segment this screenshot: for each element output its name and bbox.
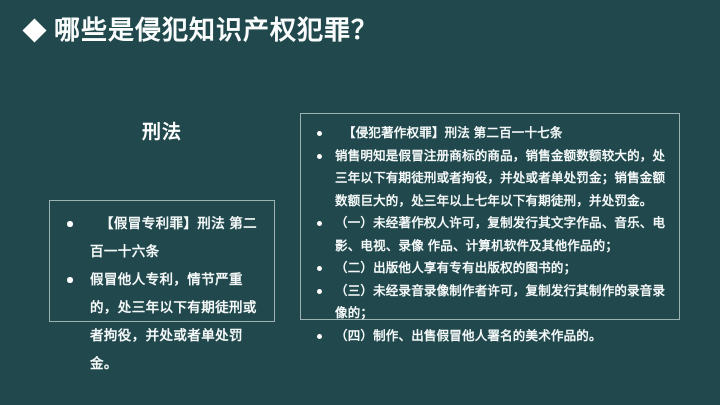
slide-canvas: 哪些是侵犯知识产权犯罪？ 刑法 【假冒专利罪】刑法 第二百一十六条 假冒他人专利… (0, 0, 720, 405)
list-item: 销售明知是假冒注册商标的商品，销售金额数额较大的，处三年以下有期徒刑或者拘役，并… (307, 145, 669, 213)
list-item: （二）出版他人享有专有出版权的图书的； (307, 257, 669, 280)
criminal-law-patent-box: 【假冒专利罪】刑法 第二百一十六条 假冒他人专利，情节严重的，处三年以下有期徒刑… (49, 200, 275, 322)
page-title: 哪些是侵犯知识产权犯罪？ (54, 16, 378, 45)
right-bullet-list: 【侵犯著作权罪】刑法 第二百一十七条 销售明知是假冒注册商标的商品，销售金额数额… (307, 122, 669, 347)
list-item: （四）制作、出售假冒他人署名的美术作品的。 (307, 325, 669, 348)
slide-title-row: 哪些是侵犯知识产权犯罪？ (26, 16, 378, 45)
list-item: （一）未经著作权人许可，复制发行其文字作品、音乐、电影、电视、录像 作品、计算机… (307, 212, 669, 257)
copyright-infringement-box: 【侵犯著作权罪】刑法 第二百一十七条 销售明知是假冒注册商标的商品，销售金额数额… (300, 113, 680, 320)
left-column-heading: 刑法 (49, 117, 275, 144)
diamond-bullet-icon (22, 18, 46, 42)
left-bullet-list: 【假冒专利罪】刑法 第二百一十六条 假冒他人专利，情节严重的，处三年以下有期徒刑… (58, 210, 264, 378)
list-item: （三）未经录音录像制作者许可，复制发行其制作的录音录像的； (307, 280, 669, 325)
list-item: 【侵犯著作权罪】刑法 第二百一十七条 (307, 122, 669, 145)
list-item: 【假冒专利罪】刑法 第二百一十六条 (58, 210, 264, 266)
list-item: 假冒他人专利，情节严重的，处三年以下有期徒刑或者拘役，并处或者单处罚金。 (58, 266, 264, 378)
